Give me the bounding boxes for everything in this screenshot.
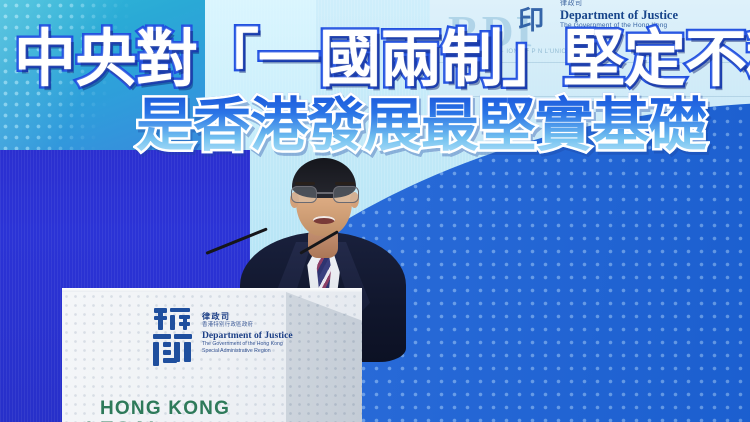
headline-line-2: 是香港發展最堅實基礎 (136, 78, 706, 162)
podium-event-title-line2: LEGAL (86, 418, 336, 422)
glasses-icon (290, 186, 360, 204)
podium-zh-gov: 香港特別行政區政府 (202, 322, 342, 329)
podium-zh-dept: 律政司 (202, 312, 342, 322)
podium-doj-text-block: 律政司 香港特別行政區政府 Department of Justice The … (202, 312, 342, 354)
news-banner-image: RDI THE UNION OF · ION OF P N L'UNION DU… (0, 0, 750, 422)
podium-en-gov-line1: The Government of the Hong Kong (202, 341, 342, 348)
speaker-mouth (313, 216, 335, 224)
headline-overlay: 中央對「一國兩制」堅定不移 是香港發展最堅實基礎 是香港發展最堅實基礎 (0, 0, 750, 150)
doj-seal-icon (150, 306, 196, 368)
speaker-eyebrow-right (335, 182, 355, 185)
podium-en-gov-line2: Special Administrative Region (202, 348, 342, 355)
podium-en-dept: Department of Justice (202, 330, 342, 341)
podium-event-title-line1: HONG KONG (100, 398, 330, 420)
speaker-eyebrow-left (295, 182, 315, 185)
